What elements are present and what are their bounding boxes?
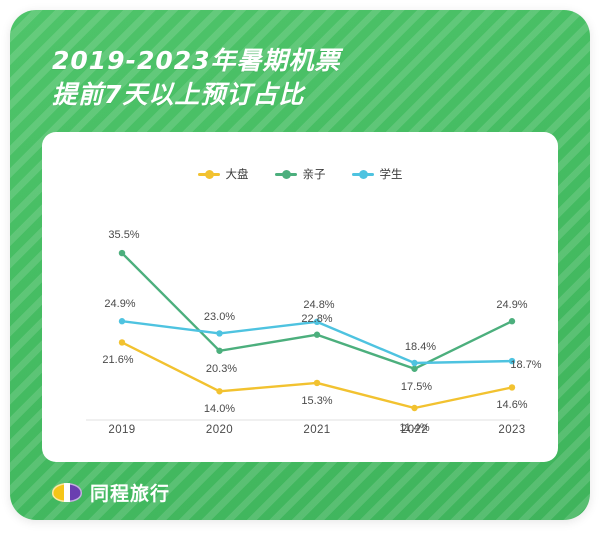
poster-footer: 同程旅行 bbox=[10, 464, 590, 520]
data-point-label: 23.0% bbox=[204, 311, 235, 323]
brand: 同程旅行 bbox=[52, 479, 170, 506]
data-point[interactable] bbox=[119, 339, 125, 345]
data-point-label: 14.6% bbox=[496, 399, 527, 411]
data-point-label: 15.3% bbox=[301, 395, 332, 407]
brand-name: 同程旅行 bbox=[90, 479, 170, 506]
data-point[interactable] bbox=[314, 380, 320, 386]
tongcheng-logo-icon bbox=[52, 483, 82, 502]
data-point[interactable] bbox=[411, 360, 417, 366]
data-point-label: 20.3% bbox=[206, 363, 237, 375]
data-point-label: 24.9% bbox=[104, 298, 135, 310]
series-layer bbox=[119, 250, 515, 411]
chart-card: 大盘 亲子 学生 20192020202120222023 21.6%14.0%… bbox=[42, 132, 558, 462]
data-point[interactable] bbox=[119, 318, 125, 324]
data-point[interactable] bbox=[216, 388, 222, 394]
data-point-label: 11.4% bbox=[399, 422, 429, 434]
data-point[interactable] bbox=[509, 384, 515, 390]
data-point-label: 18.7% bbox=[510, 359, 541, 371]
x-axis-tick-labels: 20192020202120222023 bbox=[42, 424, 558, 444]
x-tick-label: 2020 bbox=[206, 424, 233, 436]
data-point-label: 24.8% bbox=[303, 299, 334, 311]
poster-container: 2019-2023年暑期机票 提前7天以上预订占比 大盘 亲子 学生 20192… bbox=[10, 10, 590, 520]
x-tick-label: 2023 bbox=[498, 424, 525, 436]
data-point-label: 18.4% bbox=[405, 341, 436, 353]
data-point[interactable] bbox=[216, 330, 222, 336]
series-line-1 bbox=[122, 253, 512, 369]
data-point-label: 17.5% bbox=[401, 381, 432, 393]
data-point-label: 35.5% bbox=[108, 229, 139, 241]
data-point[interactable] bbox=[411, 405, 417, 411]
page-title: 2019-2023年暑期机票 提前7天以上预订占比 bbox=[52, 44, 512, 112]
title-line-2: 提前7天以上预订占比 bbox=[52, 78, 512, 112]
x-tick-label: 2019 bbox=[108, 424, 135, 436]
data-point-label: 14.0% bbox=[204, 403, 235, 415]
data-point-label: 24.9% bbox=[496, 299, 527, 311]
title-line-1: 2019-2023年暑期机票 bbox=[52, 44, 512, 78]
line-chart-plot bbox=[42, 132, 558, 462]
data-point-label: 21.6% bbox=[102, 354, 133, 366]
data-point[interactable] bbox=[509, 318, 515, 324]
x-tick-label: 2021 bbox=[303, 424, 330, 436]
data-point[interactable] bbox=[216, 348, 222, 354]
series-line-2 bbox=[122, 321, 512, 363]
data-point[interactable] bbox=[411, 366, 417, 372]
data-point[interactable] bbox=[119, 250, 125, 256]
data-point-label: 22.8% bbox=[301, 313, 332, 325]
data-point[interactable] bbox=[314, 332, 320, 338]
